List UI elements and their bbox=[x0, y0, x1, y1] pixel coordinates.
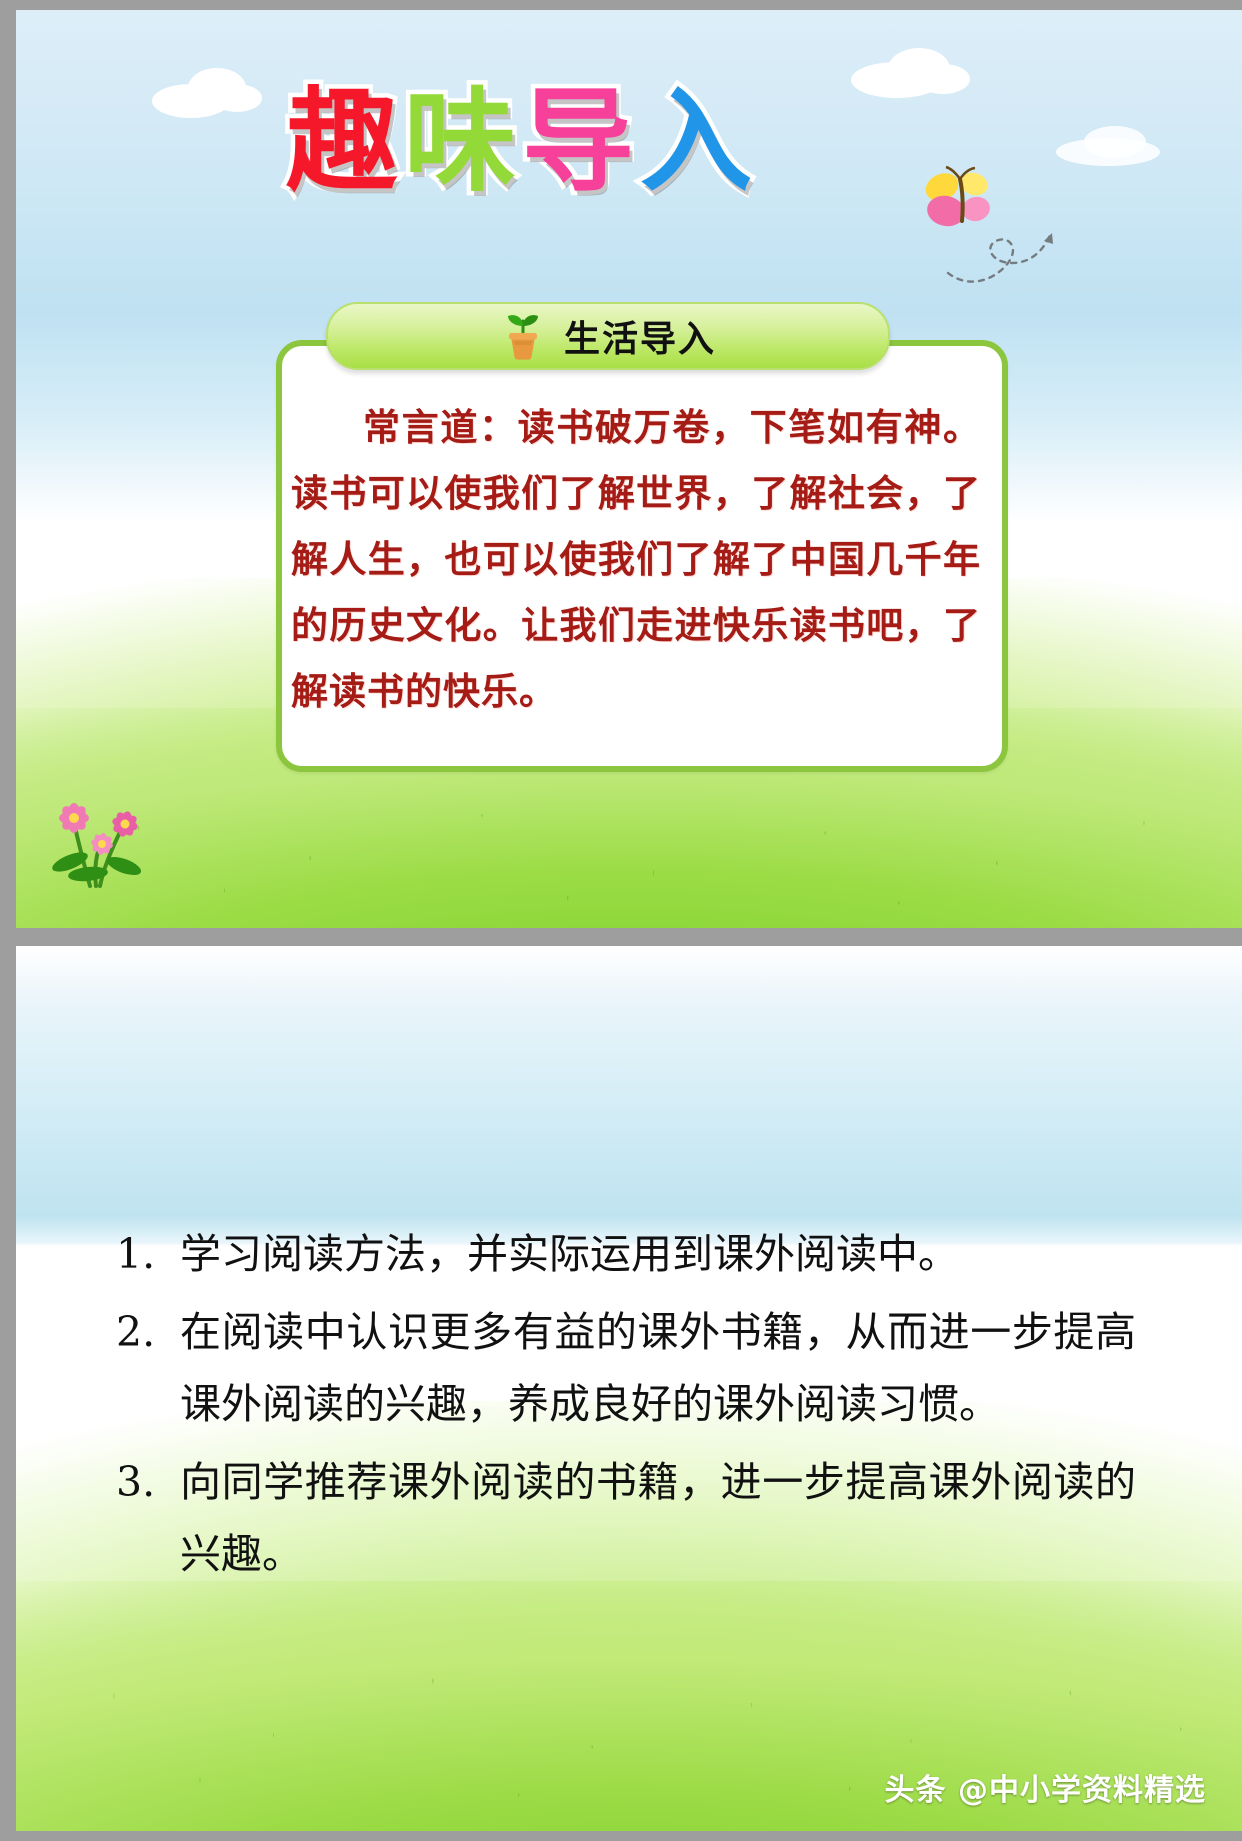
slide-divider bbox=[0, 928, 1242, 946]
sky-background bbox=[16, 946, 1242, 1246]
card-header-tab: 生活导入 bbox=[326, 302, 890, 370]
intro-paragraph: 常言道：读书破万卷，下笔如有神。读书可以使我们了解世界，了解社会，了解人生，也可… bbox=[291, 395, 981, 725]
card-tab-label: 生活导入 bbox=[564, 310, 716, 362]
list-item: 3. 向同学推荐课外阅读的书籍，进一步提高课外阅读的兴趣。 bbox=[116, 1446, 1136, 1590]
list-item-text: 学习阅读方法，并实际运用到课外阅读中。 bbox=[180, 1218, 1136, 1290]
butterfly-trail-icon bbox=[946, 225, 1056, 285]
list-item-number: 1. bbox=[116, 1218, 180, 1290]
page-title: 趣 味 导 入 bbox=[286, 72, 926, 212]
flower-icon bbox=[30, 778, 190, 888]
list-item-text: 向同学推荐课外阅读的书籍，进一步提高课外阅读的兴趣。 bbox=[180, 1446, 1136, 1590]
list-item-text: 在阅读中认识更多有益的课外书籍，从而进一步提高课外阅读的兴趣，养成良好的课外阅读… bbox=[180, 1296, 1136, 1440]
list-item: 1. 学习阅读方法，并实际运用到课外阅读中。 bbox=[116, 1218, 1136, 1290]
title-char-3: 导 bbox=[522, 86, 640, 198]
watermark: 头条 @中小学资料精选 bbox=[885, 1765, 1206, 1809]
slide-deck-page: 趣 味 导 入 bbox=[0, 0, 1242, 1841]
list-item: 2. 在阅读中认识更多有益的课外书籍，从而进一步提高课外阅读的兴趣，养成良好的课… bbox=[116, 1296, 1136, 1440]
title-char-2: 味 bbox=[404, 86, 522, 198]
sprout-in-pot-icon bbox=[500, 310, 546, 362]
objectives-list: 1. 学习阅读方法，并实际运用到课外阅读中。 2. 在阅读中认识更多有益的课外书… bbox=[116, 1218, 1136, 1596]
flower-head bbox=[58, 802, 139, 855]
title-char-1: 趣 bbox=[286, 86, 404, 198]
title-char-4: 入 bbox=[640, 86, 758, 198]
slide-2: 1. 学习阅读方法，并实际运用到课外阅读中。 2. 在阅读中认识更多有益的课外书… bbox=[16, 946, 1242, 1831]
list-item-number: 2. bbox=[116, 1296, 180, 1368]
card-body: 常言道：读书破万卷，下笔如有神。读书可以使我们了解世界，了解社会，了解人生，也可… bbox=[291, 395, 981, 725]
slide-1: 趣 味 导 入 bbox=[16, 10, 1242, 928]
list-item-number: 3. bbox=[116, 1446, 180, 1518]
